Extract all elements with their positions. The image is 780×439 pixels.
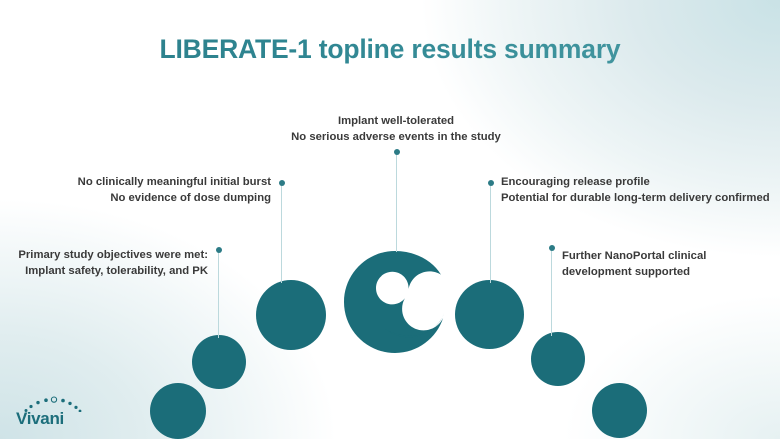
- brand-swoosh-icon: [341, 249, 449, 357]
- connector-stem-initial-burst: [281, 183, 282, 283]
- callout-line: Implant well-tolerated: [256, 114, 536, 130]
- callout-primary-objectives: Primary study objectives were met: Impla…: [0, 248, 208, 279]
- callout-line: Potential for durable long-term delivery…: [501, 191, 780, 207]
- callout-line: No clinically meaningful initial burst: [60, 175, 271, 191]
- background-gradient-top-left: [0, 0, 780, 439]
- connector-stem-well-tolerated: [396, 152, 397, 252]
- slide-title: LIBERATE-1 topline results summary: [0, 34, 780, 65]
- connector-dot-primary-objectives: [216, 247, 222, 253]
- connector-dot-initial-burst: [279, 180, 285, 186]
- callout-nanoportal-development: Further NanoPortal clinical development …: [562, 249, 777, 280]
- connector-stem-nanoportal-development: [551, 248, 552, 336]
- callout-line: Implant safety, tolerability, and PK: [0, 264, 208, 280]
- background-gradient-bottom-left: [0, 0, 780, 439]
- decorative-circle-5: [531, 332, 585, 386]
- connector-stem-release-profile: [490, 183, 491, 283]
- decorative-circle-4: [455, 280, 524, 349]
- callout-line: development supported: [562, 265, 777, 281]
- decorative-circle-6: [592, 383, 647, 438]
- decorative-circle-3: [256, 280, 326, 350]
- connector-dot-release-profile: [488, 180, 494, 186]
- background-gradient-bottom-right: [0, 0, 780, 439]
- callout-line: No serious adverse events in the study: [256, 130, 536, 146]
- callout-line: Primary study objectives were met:: [0, 248, 208, 264]
- callout-well-tolerated: Implant well-tolerated No serious advers…: [256, 114, 536, 145]
- decorative-circle-2: [192, 335, 246, 389]
- decorative-circle-1: [150, 383, 206, 439]
- callout-initial-burst: No clinically meaningful initial burst N…: [60, 175, 271, 206]
- callout-line: Further NanoPortal clinical: [562, 249, 777, 265]
- connector-stem-primary-objectives: [218, 250, 219, 338]
- vivani-logo: Vivani: [16, 396, 88, 432]
- logo-wordmark: Vivani: [16, 409, 64, 429]
- background-gradient-top-right: [0, 0, 780, 439]
- slide-canvas: LIBERATE-1 topline results summary Prima…: [0, 0, 780, 439]
- connector-dot-nanoportal-development: [549, 245, 555, 251]
- callout-line: Encouraging release profile: [501, 175, 780, 191]
- callout-line: No evidence of dose dumping: [60, 191, 271, 207]
- callout-release-profile: Encouraging release profile Potential fo…: [501, 175, 780, 206]
- connector-dot-well-tolerated: [394, 149, 400, 155]
